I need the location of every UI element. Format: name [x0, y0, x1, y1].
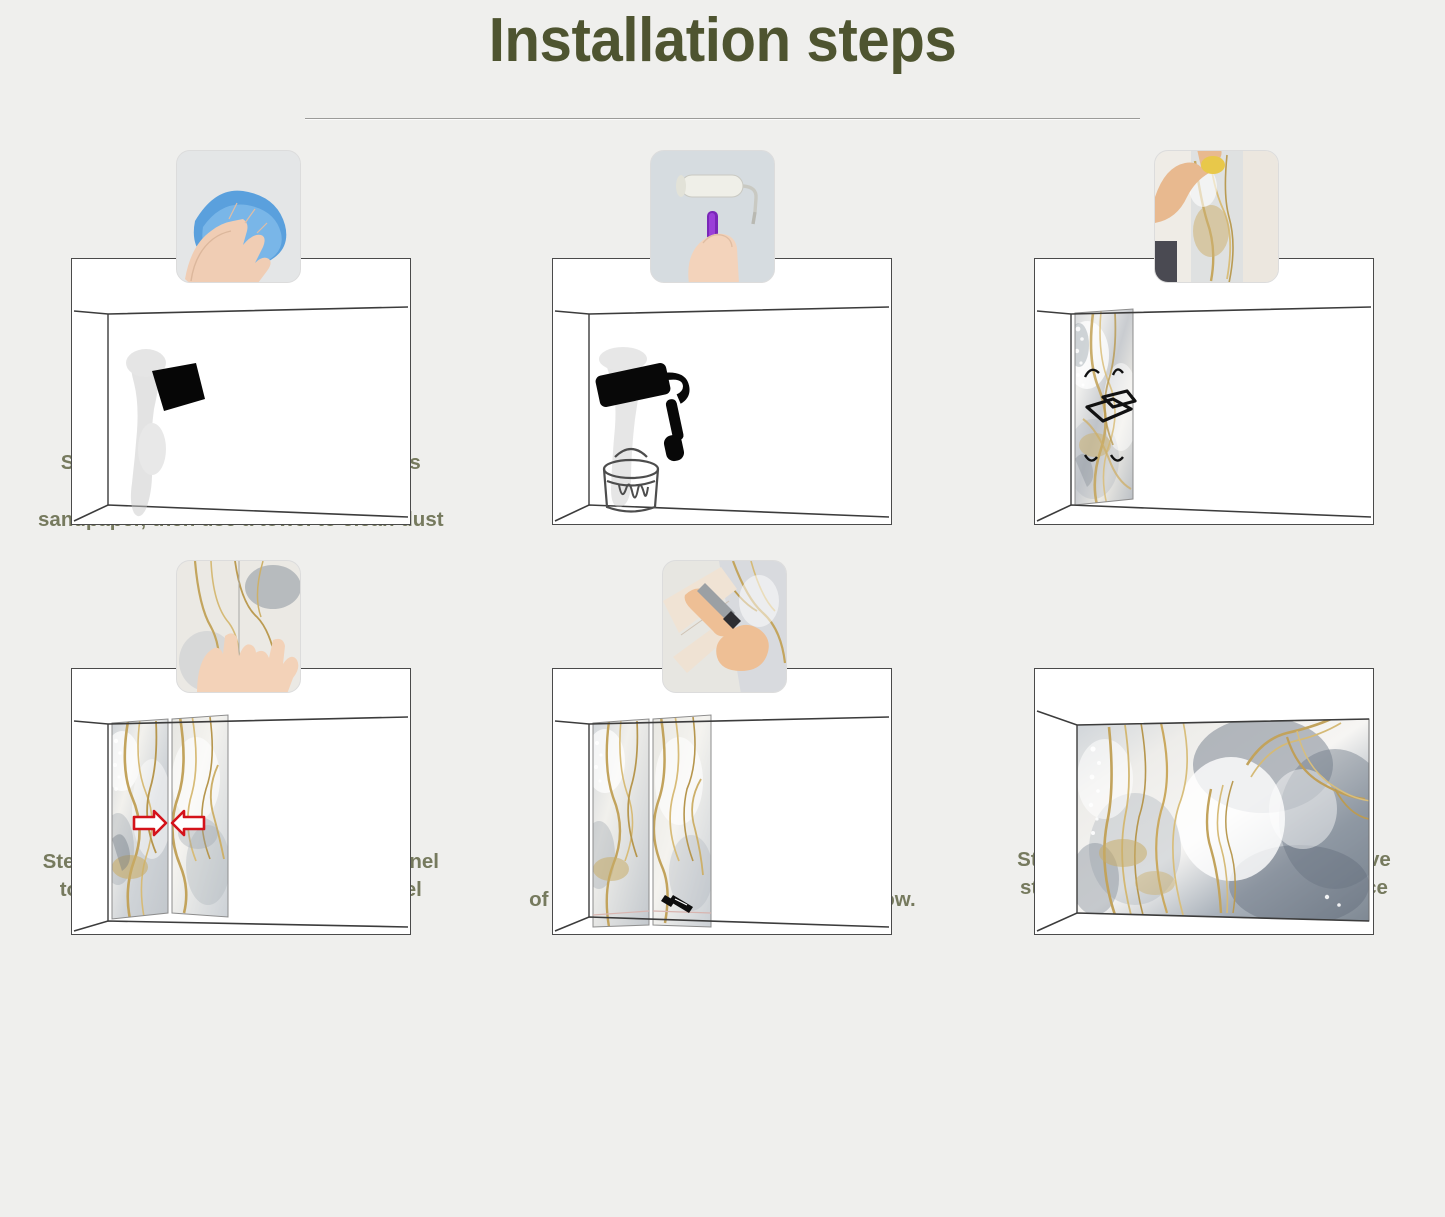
steps-row-top: Step One: patch up holes and cracks in t… — [0, 150, 1445, 534]
steps-row-bottom: Step Four: slowly slide the second panel… — [0, 560, 1445, 915]
title-divider — [305, 118, 1140, 119]
steps-grid: Step One: patch up holes and cracks in t… — [0, 150, 1445, 914]
room-box — [552, 258, 892, 525]
step-card-six: Step Six:In accordance with the above st… — [963, 560, 1445, 915]
step-card-three: Step Three: paste the first panel and sm… — [963, 150, 1445, 534]
step-three-illustration — [1034, 150, 1374, 425]
step-card-two: Step Two: apply heavy-duty wallpaper adh… — [482, 150, 964, 534]
room-box — [552, 668, 892, 935]
step-one-illustration — [71, 150, 411, 425]
room-box — [71, 258, 411, 525]
step-six-illustration — [1034, 560, 1374, 832]
step-four-illustration — [71, 560, 411, 832]
inset-photo-step-five — [662, 560, 787, 693]
page-title: Installation steps — [43, 0, 1401, 73]
inset-photo-step-two — [650, 150, 775, 283]
step-card-four: Step Four: slowly slide the second panel… — [0, 560, 482, 915]
step-five-illustration — [552, 560, 892, 832]
inset-photo-step-three — [1154, 150, 1279, 283]
step-two-illustration — [552, 150, 892, 425]
paint-roller-icon — [595, 362, 693, 463]
step-card-one: Step One: patch up holes and cracks in t… — [0, 150, 482, 534]
room-box — [1034, 258, 1374, 525]
inset-photo-step-one — [176, 150, 301, 283]
sandpaper-block-icon — [152, 363, 205, 411]
room-box — [1034, 668, 1374, 935]
inset-photo-step-four — [176, 560, 301, 693]
step-card-five: Step Five: Use a knife or a pair of scis… — [482, 560, 964, 915]
room-box — [71, 668, 411, 935]
